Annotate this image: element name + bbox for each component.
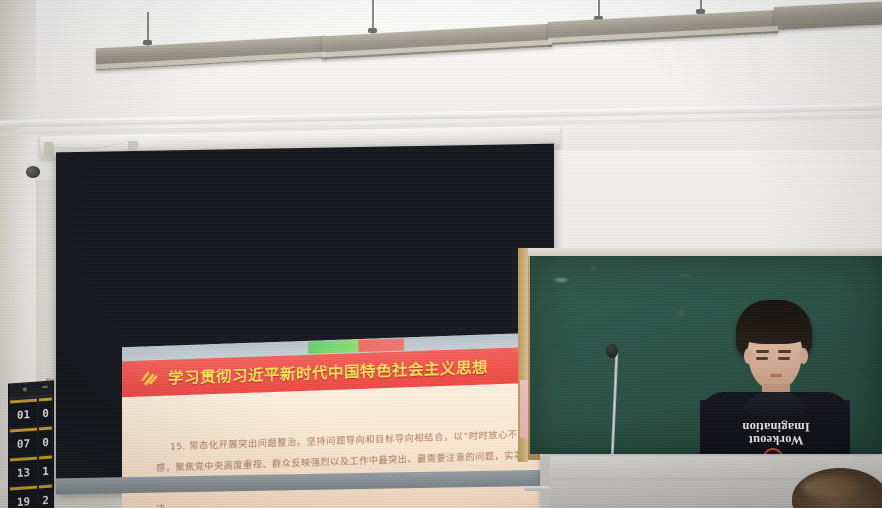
classroom-photo-scene: 学习贯彻习近平新时代中国特色社会主义思想: [0, 0, 882, 508]
eyebrow: [778, 350, 791, 353]
hair-fringe: [738, 318, 810, 344]
panel-cell[interactable]: 2: [39, 485, 52, 508]
panel-cell[interactable]: 07: [10, 428, 37, 457]
ear: [799, 348, 808, 364]
panel-row: 01 0: [9, 397, 53, 427]
party-emblem-icon: [138, 368, 160, 389]
hoodie-print: Workeout Imagination: [728, 420, 824, 446]
ear: [744, 348, 753, 364]
lectern-left-edge: [540, 456, 550, 508]
blackboard-rail-accent: [520, 380, 528, 438]
panel-cell[interactable]: 13: [10, 457, 37, 486]
slide-paragraph: 15. 常态化开展突出问题整治。坚持问题导向和目标导向相结合，以“时时放心不下”…: [156, 424, 562, 508]
student-speaker: Workeout Imagination: [700, 300, 850, 466]
eye: [778, 357, 790, 360]
panel-cell[interactable]: 0: [39, 398, 52, 426]
eye: [756, 357, 768, 360]
mouth: [770, 374, 782, 377]
eyebrow: [756, 350, 769, 353]
panel-cell[interactable]: 19: [10, 486, 37, 508]
wall-knob[interactable]: [26, 166, 40, 178]
hoodie-collar: [744, 392, 806, 418]
panel-row: 19 2: [9, 484, 53, 508]
hoodie-print-line2: Imagination: [728, 420, 824, 433]
projector-screen[interactable]: 学习贯彻习近平新时代中国特色社会主义思想: [56, 144, 554, 493]
panel-cell[interactable]: 01: [10, 399, 37, 428]
panel-cell[interactable]: 1: [39, 456, 52, 484]
slide-paragraph-block: 15. 常态化开展突出问题整治。坚持问题导向和目标导向相结合，以“时时放心不下”…: [156, 424, 562, 508]
lectern-rail: [524, 486, 550, 491]
panel-row: 13 1: [9, 455, 53, 485]
panel-row: 07 0: [9, 426, 53, 456]
numbered-locker-panel[interactable]: 01 0 07 0 13 1 19 2: [8, 380, 54, 508]
hoodie-print-line1: Workeout: [728, 433, 824, 446]
blackboard-top-edge: [524, 248, 882, 256]
slide-title: 学习贯彻习近平新时代中国特色社会主义思想: [168, 356, 488, 389]
panel-cell[interactable]: 0: [39, 427, 52, 455]
panel-header: [9, 381, 53, 398]
